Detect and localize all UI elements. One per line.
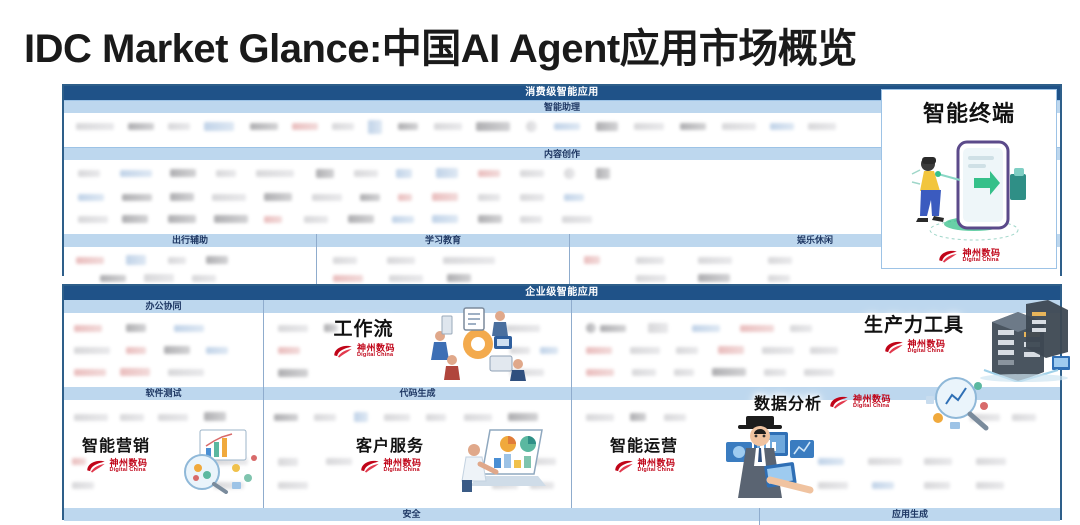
enterprise-column-label-appgen: 应用生成 <box>760 508 1060 521</box>
digital-china-mark-icon <box>883 339 905 355</box>
logo-grid-travel <box>64 247 316 289</box>
digital-china-logo-operations: 神州数码 Digital China <box>613 458 676 474</box>
digital-china-logo-marketing: 神州数码 Digital China <box>85 458 148 474</box>
logo-grid-office <box>64 313 263 387</box>
consumer-section: 消费级智能应用 智能助理 内容创作 <box>62 84 1062 276</box>
enterprise-bottom-row: 安全 <box>64 508 1060 525</box>
logo-text-en: Digital China <box>110 468 148 474</box>
smart-terminal-panel: 智能终端 <box>881 89 1057 269</box>
page-title: IDC Market Glance:中国AI Agent应用市场概览 <box>24 16 857 74</box>
phone-ar-illustration <box>894 130 1044 246</box>
logo-grid-appgen <box>760 521 1060 525</box>
logo-text-en: Digital China <box>638 468 676 474</box>
digital-china-logo-terminal: 神州数码 Digital China <box>937 248 1000 264</box>
enterprise-row-3 <box>64 446 1060 508</box>
enterprise-column-appgen: 应用生成 <box>760 508 1060 525</box>
callout-label-data-analysis: 数据分析 <box>754 390 822 414</box>
callout-label-workflow: 工作流 <box>334 314 394 341</box>
digital-china-logo-productivity: 神州数码 Digital China <box>883 339 946 355</box>
callout-workflow: 工作流 神州数码 Digital China <box>332 314 395 359</box>
enterprise-column-productivity <box>572 300 1060 387</box>
callout-label-smart-terminal: 智能终端 <box>923 96 1015 128</box>
callout-label-smart-operations: 智能运营 <box>610 432 678 456</box>
logo-text-en: Digital China <box>853 404 891 410</box>
consumer-column-education: 学习教育 <box>317 234 570 289</box>
callout-smart-operations: 智能运营 神州数码 Digital China <box>610 432 678 474</box>
digital-china-mark-icon <box>332 343 354 359</box>
enterprise-column-workflow <box>264 300 572 387</box>
digital-china-logo-workflow: 神州数码 Digital China <box>332 343 395 359</box>
callout-label-smart-marketing: 智能营销 <box>82 432 150 456</box>
enterprise-section: 企业级智能应用 办公协同 <box>62 284 1062 520</box>
enterprise-column-label-workflow <box>264 300 571 313</box>
enterprise-column-label-security: 安全 <box>64 508 759 521</box>
callout-smart-terminal: 智能终端 <box>923 96 1015 128</box>
enterprise-column-label-productivity <box>572 300 1060 313</box>
enterprise-column-office: 办公协同 <box>64 300 264 387</box>
enterprise-column-label-office: 办公协同 <box>64 300 263 313</box>
callout-customer-service: 客户服务 神州数码 Digital China <box>356 432 424 474</box>
callout-label-productivity-tools: 生产力工具 <box>864 310 964 337</box>
digital-china-logo-customerservice: 神州数码 Digital China <box>359 458 422 474</box>
logo-text-en: Digital China <box>908 349 946 355</box>
enterprise-column-security: 安全 <box>64 508 760 525</box>
slide-root: IDC Market Glance:中国AI Agent应用市场概览 消费级智能… <box>0 0 1080 525</box>
logo-grid-productivity <box>572 313 1060 387</box>
consumer-column-travel: 出行辅助 <box>64 234 317 289</box>
callout-smart-marketing: 智能营销 神州数码 Digital China <box>82 432 150 474</box>
logo-grid-education <box>317 247 569 289</box>
digital-china-mark-icon <box>937 248 959 264</box>
logo-text-en: Digital China <box>357 353 395 359</box>
logo-text-en: Digital China <box>962 258 1000 264</box>
enterprise-band-title: 企业级智能应用 <box>64 286 1060 300</box>
digital-china-mark-icon <box>828 394 850 410</box>
logo-grid-workflow <box>264 313 571 387</box>
enterprise-column-label-codegen: 代码生成 <box>264 387 571 400</box>
digital-china-logo-dataanalysis: 神州数码 Digital China <box>828 394 891 410</box>
digital-china-mark-icon <box>613 458 635 474</box>
logo-text-en: Digital China <box>384 468 422 474</box>
enterprise-row-2: 软件测试 代码生成 <box>64 387 1060 446</box>
logo-grid-security <box>64 521 759 525</box>
callout-productivity-tools: 生产力工具 神州数码 Digital China <box>864 310 964 355</box>
consumer-column-label-education: 学习教育 <box>317 234 569 247</box>
digital-china-mark-icon <box>85 458 107 474</box>
digital-china-mark-icon <box>359 458 381 474</box>
callout-data-analysis: 数据分析 神州数码 Digital China <box>754 390 891 414</box>
consumer-column-label-travel: 出行辅助 <box>64 234 316 247</box>
callout-label-customer-service: 客户服务 <box>356 432 424 456</box>
enterprise-column-label-testing: 软件测试 <box>64 387 263 400</box>
